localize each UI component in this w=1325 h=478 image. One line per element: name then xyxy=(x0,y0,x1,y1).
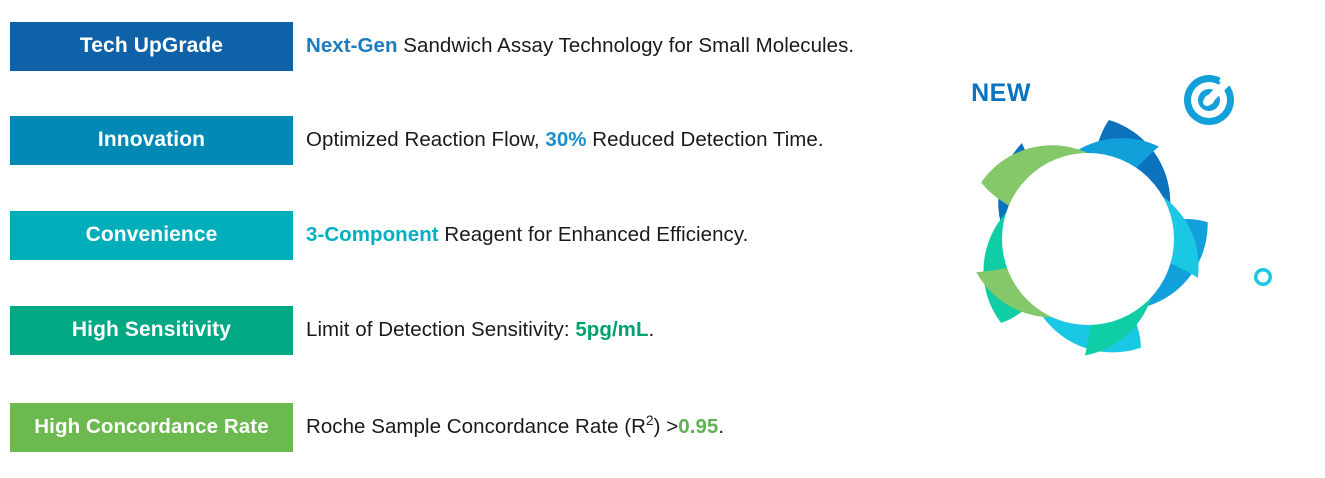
feature-tag-high-sensitivity: High Sensitivity xyxy=(10,306,293,355)
feature-description: Limit of Detection Sensitivity: 5pg/mL. xyxy=(306,318,851,342)
feature-tag-convenience: Convenience xyxy=(10,211,293,260)
feature-description-prefix: Optimized Reaction Flow, xyxy=(306,128,545,151)
feature-list: Tech UpGrade Next-Gen Sandwich Assay Tec… xyxy=(0,0,860,478)
feature-description-text: . xyxy=(718,415,724,438)
feature-tag-label: High Concordance Rate xyxy=(34,415,268,439)
feature-row: Innovation Optimized Reaction Flow, 30% … xyxy=(0,115,860,165)
feature-highlight: 30% xyxy=(545,128,586,151)
feature-tag-label: Innovation xyxy=(98,128,205,152)
medal-star-icon xyxy=(908,233,962,317)
feature-description-superscript: 2 xyxy=(646,413,654,428)
feature-row: Tech UpGrade Next-Gen Sandwich Assay Tec… xyxy=(0,21,860,71)
feature-description-prefix: Roche Sample Concordance Rate (R xyxy=(306,415,646,438)
feature-highlight: Next-Gen xyxy=(306,34,398,57)
feature-description: 3-Component Reagent for Enhanced Efficie… xyxy=(306,223,851,247)
feature-highlight: 3-Component xyxy=(306,223,439,246)
feature-tag-tech-upgrade: Tech UpGrade xyxy=(10,22,293,71)
feature-tag-label: High Sensitivity xyxy=(72,318,231,342)
pinwheel-center xyxy=(1002,153,1174,325)
new-badge-icon: NEW xyxy=(967,72,1035,128)
infographic-container: Tech UpGrade Next-Gen Sandwich Assay Tec… xyxy=(0,0,1325,478)
feature-description: Next-Gen Sandwich Assay Technology for S… xyxy=(306,34,851,58)
feature-description-prefix: Limit of Detection Sensitivity: xyxy=(306,318,575,341)
feature-description-text: Sandwich Assay Technology for Small Mole… xyxy=(398,34,855,57)
feature-row: Convenience 3-Component Reagent for Enha… xyxy=(0,210,860,260)
target-arrow-icon xyxy=(1176,64,1250,133)
feature-description: Optimized Reaction Flow, 30% Reduced Det… xyxy=(306,128,851,152)
feature-tag-label: Convenience xyxy=(86,223,218,247)
feature-description-text: Reagent for Enhanced Efficiency. xyxy=(439,223,749,246)
pinwheel-graphic: NEW xyxy=(853,2,1323,476)
new-badge-label: NEW xyxy=(971,79,1031,107)
feature-tag-label: Tech UpGrade xyxy=(80,34,223,58)
feature-tag-high-concordance-rate: High Concordance Rate xyxy=(10,403,293,452)
feature-highlight: 0.95 xyxy=(678,415,718,438)
lightning-bolt-icon xyxy=(1075,360,1113,442)
feature-description-mid: ) > xyxy=(654,415,679,438)
feature-description: Roche Sample Concordance Rate (R2) >0.95… xyxy=(306,415,851,439)
feature-highlight: 5pg/mL xyxy=(575,318,648,341)
feature-row: High Concordance Rate Roche Sample Conco… xyxy=(0,402,860,452)
feature-row: High Sensitivity Limit of Detection Sens… xyxy=(0,305,860,355)
feature-description-text: . xyxy=(649,318,655,341)
feature-tag-innovation: Innovation xyxy=(10,116,293,165)
rocket-icon xyxy=(1235,254,1291,328)
feature-description-text: Reduced Detection Time. xyxy=(587,128,824,151)
